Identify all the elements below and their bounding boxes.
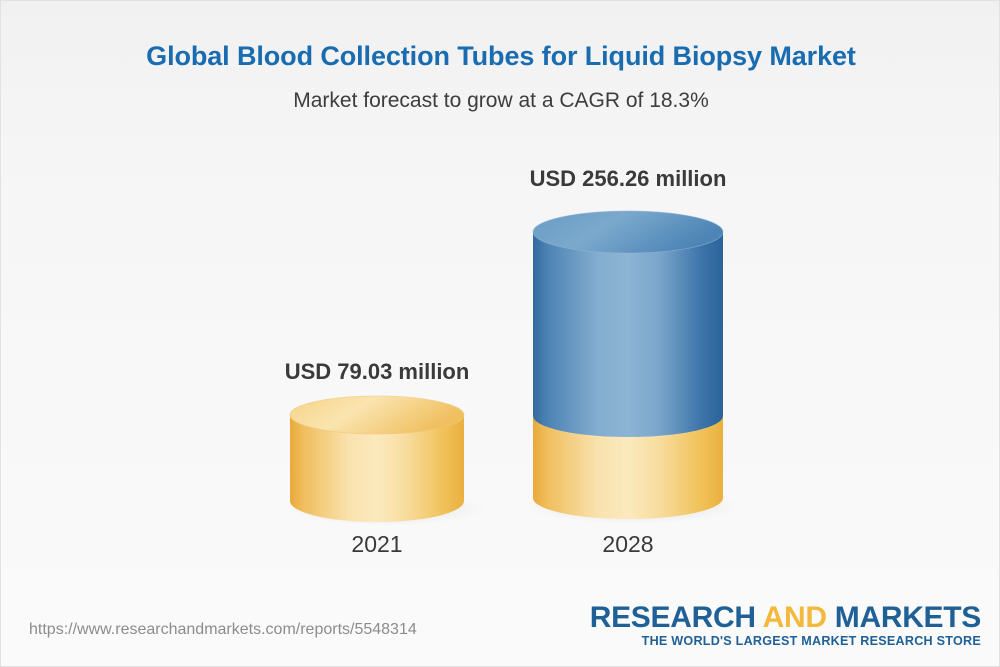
logo-word-markets: MARKETS [827,601,981,634]
category-label-2028: 2028 [528,531,728,558]
category-label-2021: 2021 [277,531,477,558]
infographic-canvas: Global Blood Collection Tubes for Liquid… [0,0,1000,667]
logo-wordmark: RESEARCH AND MARKETS [590,603,981,634]
logo-tagline: THE WORLD'S LARGEST MARKET RESEARCH STOR… [590,635,981,648]
bar-2021 [286,396,486,526]
research-and-markets-logo[interactable]: RESEARCH AND MARKETS THE WORLD'S LARGEST… [590,603,981,647]
logo-word-research: RESEARCH [590,601,763,634]
report-url[interactable]: https://www.researchandmarkets.com/repor… [29,621,417,639]
logo-word-and: AND [763,601,827,634]
value-label-2028: USD 256.26 million [503,166,753,192]
chart-plot-area: USD 79.03 million USD 256.26 million 202… [1,1,1000,601]
cylinder-bars-graphic [1,1,1000,601]
bar-2028 [525,211,741,524]
value-label-2021: USD 79.03 million [252,359,502,385]
